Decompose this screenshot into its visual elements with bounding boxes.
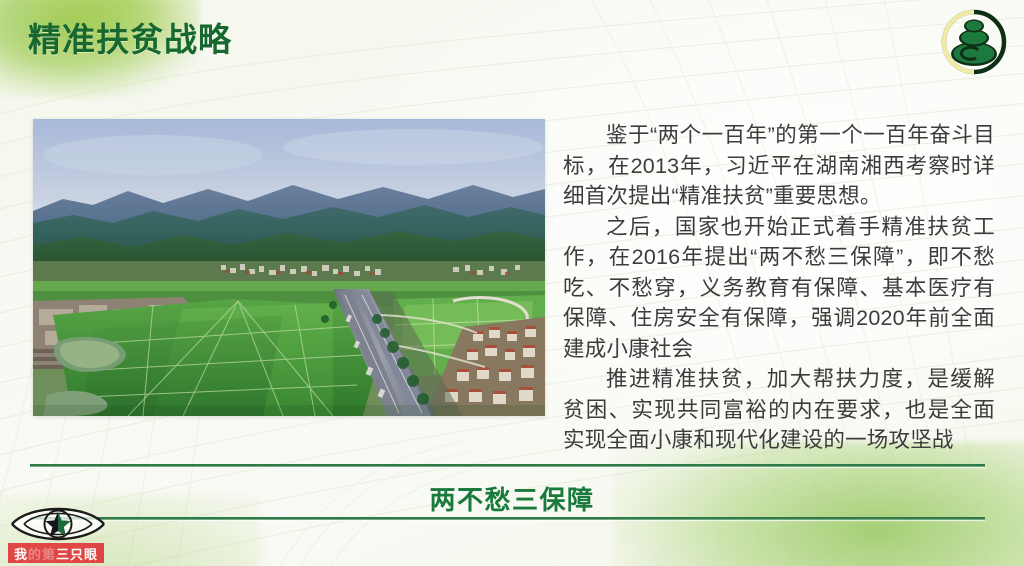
body-paragraph-2: 之后，国家也开始正式着手精准扶贫工作，在2016年提出“两不愁三保障”，即不愁吃… xyxy=(563,212,995,365)
body-paragraph-1: 鉴于“两个一百年”的第一个一百年奋斗目标，在2013年，习近平在湖南湘西考察时详… xyxy=(563,120,995,212)
watermark-char-1: 我 xyxy=(14,544,28,563)
banner-heading: 两不愁三保障 xyxy=(0,480,1024,517)
body-paragraph-3: 推进精准扶贫，加大帮扶力度，是缓解贫困、实现共同富裕的内在要求，也是全面实现全面… xyxy=(563,364,995,456)
body-text-block: 鉴于“两个一百年”的第一个一百年奋斗目标，在2013年，习近平在湖南湘西考察时详… xyxy=(563,120,995,456)
aerial-countryside-photo xyxy=(33,119,545,416)
eye-with-star-icon xyxy=(8,498,108,546)
watermark-char-3: 第 xyxy=(42,544,56,563)
divider-line-bottom xyxy=(30,517,985,520)
watermark-char-5: 只 xyxy=(70,544,84,563)
page-title: 精准扶贫战略 xyxy=(28,13,232,61)
watermark-char-6: 眼 xyxy=(84,544,98,563)
stacked-stones-circle-logo-icon xyxy=(938,6,1010,78)
watermark-char-4: 三 xyxy=(56,544,70,563)
watermark-label-bar: 我 的 第 三 只 眼 xyxy=(8,543,104,563)
divider-line-top xyxy=(30,464,985,467)
watermark-char-2: 的 xyxy=(28,544,42,563)
slide-canvas: 精准扶贫战略 xyxy=(0,0,1024,566)
